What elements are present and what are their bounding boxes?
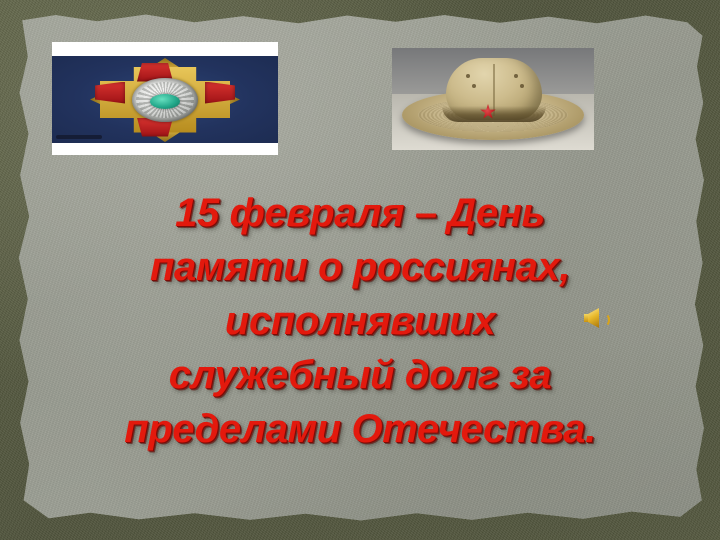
speaker-sound-wave: [599, 313, 610, 327]
medal-photo[interactable]: [52, 42, 278, 155]
hat-vent-right-lower: [520, 84, 524, 88]
medal-photo-inner: [52, 56, 278, 143]
hat-photo[interactable]: [392, 48, 594, 150]
order-medal-icon: [89, 60, 241, 140]
hat-band: [442, 106, 546, 122]
presentation-slide: 15 февраля – День памяти о россиянах, ис…: [0, 0, 720, 540]
speaker-cone: [588, 308, 599, 328]
medal-center-gem: [150, 94, 180, 109]
hat-vent-right: [514, 74, 518, 78]
speaker-icon[interactable]: [583, 306, 609, 330]
hat-vent-left-lower: [472, 84, 476, 88]
medal-photo-scuff: [56, 135, 102, 139]
hat-vent-left: [466, 74, 470, 78]
